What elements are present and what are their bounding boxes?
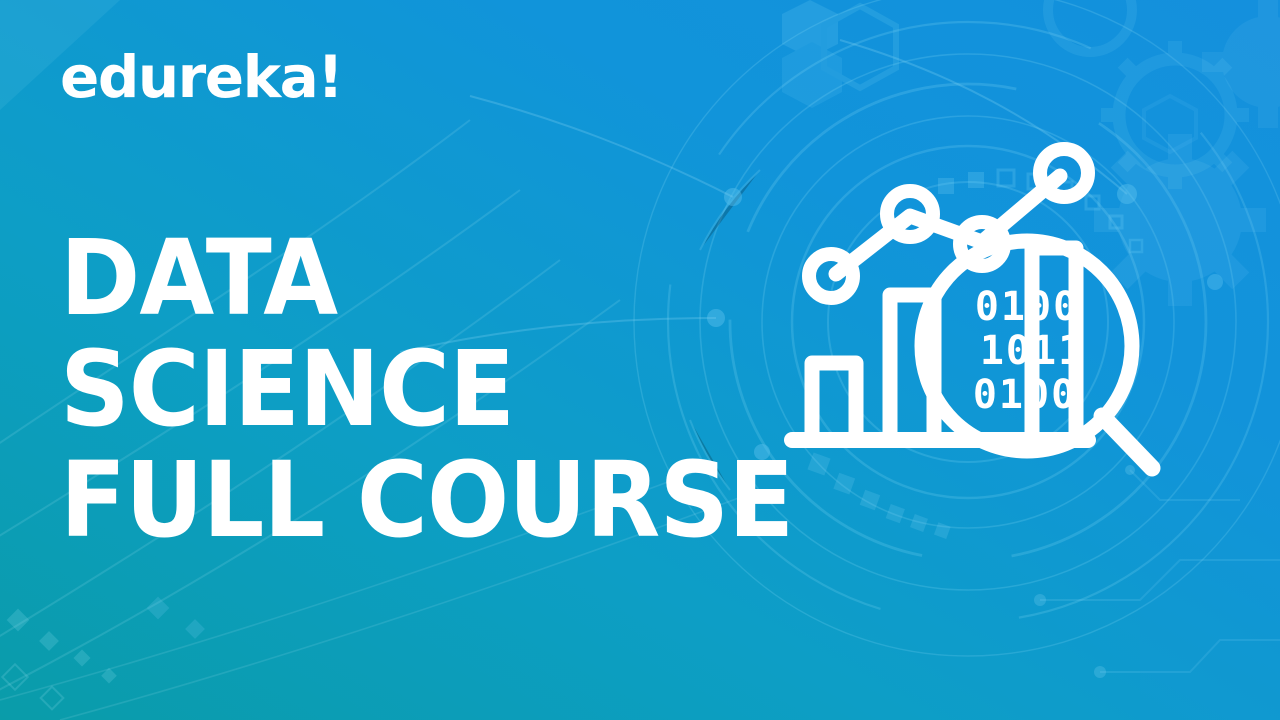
bar-1 (812, 363, 856, 438)
edureka-logo[interactable]: edureka! (60, 48, 342, 106)
page-title: DATA SCIENCE FULL COURSE (60, 228, 848, 561)
promo-thumbnail: edureka! DATA SCIENCE FULL COURSE (0, 0, 1280, 720)
square-dot-trail-lowerleft (147, 597, 205, 639)
title-line-1: DATA (60, 228, 793, 329)
logo-text: edureka! (60, 43, 342, 111)
binary-line-3: 0100 (973, 372, 1077, 418)
magnifier-handle (1102, 416, 1152, 468)
binary-readout: 0100 1011 0100 (973, 284, 1084, 418)
binary-line-1: 0100 (975, 284, 1079, 330)
title-line-2: SCIENCE (60, 339, 793, 440)
title-line-3: FULL COURSE (60, 450, 793, 551)
diamond-dots-cluster (7, 609, 117, 684)
data-science-illustration: 0100 1011 0100 (770, 120, 1170, 520)
binary-line-2: 1011 (980, 328, 1084, 374)
diamond-outline-cluster (2, 664, 63, 709)
